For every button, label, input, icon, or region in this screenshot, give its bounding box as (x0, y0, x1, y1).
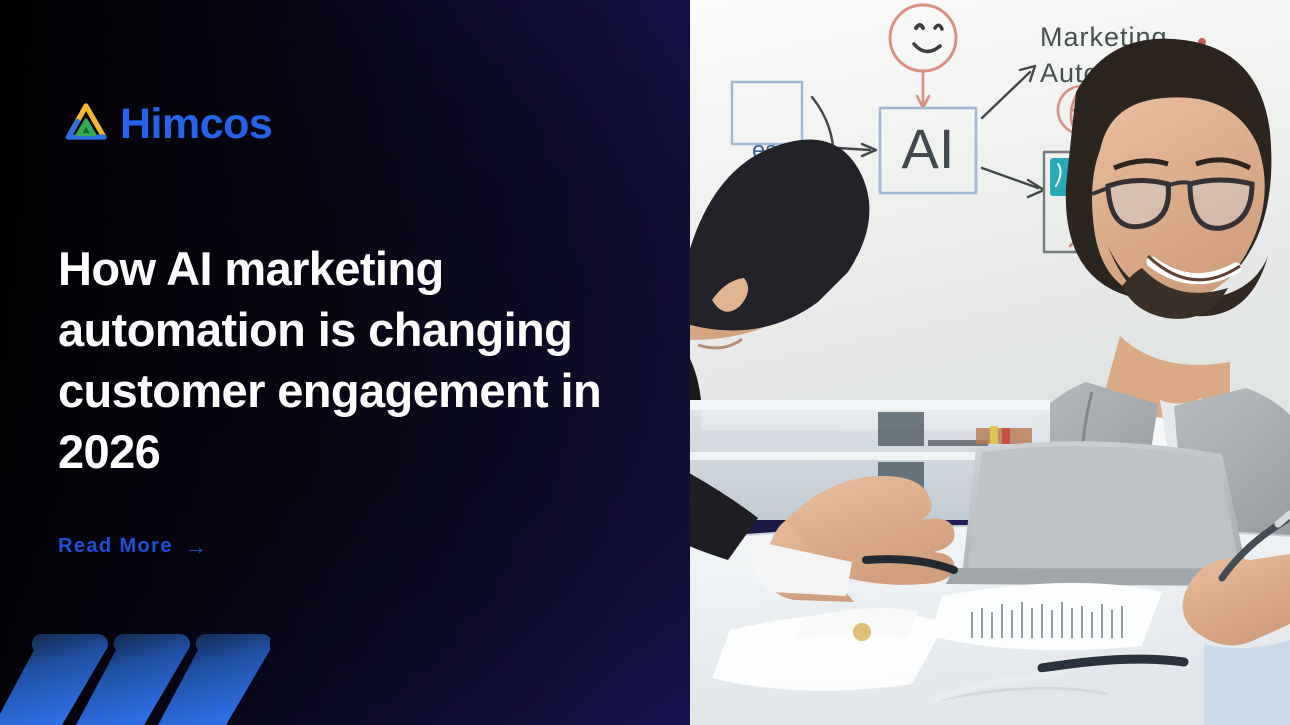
chevron-decoration (0, 620, 270, 725)
chevron-2 (76, 634, 190, 725)
arrow-right-icon: → (185, 536, 207, 558)
hero-photo: AI es (690, 0, 1290, 725)
chevron-1 (0, 634, 108, 725)
brand-name: Himcos (120, 103, 272, 146)
triangle-logo-icon (58, 96, 114, 152)
hero-banner: Himcos How AI marketing automation is ch… (0, 0, 1290, 725)
read-more-label: Read More (58, 535, 173, 558)
page-title: How AI marketing automation is changing … (58, 238, 668, 482)
chevron-3 (158, 634, 270, 725)
brand-logo[interactable]: Himcos (58, 96, 272, 152)
read-more-link[interactable]: Read More → (58, 535, 207, 558)
photo-circle-mask: AI es (690, 0, 1290, 725)
